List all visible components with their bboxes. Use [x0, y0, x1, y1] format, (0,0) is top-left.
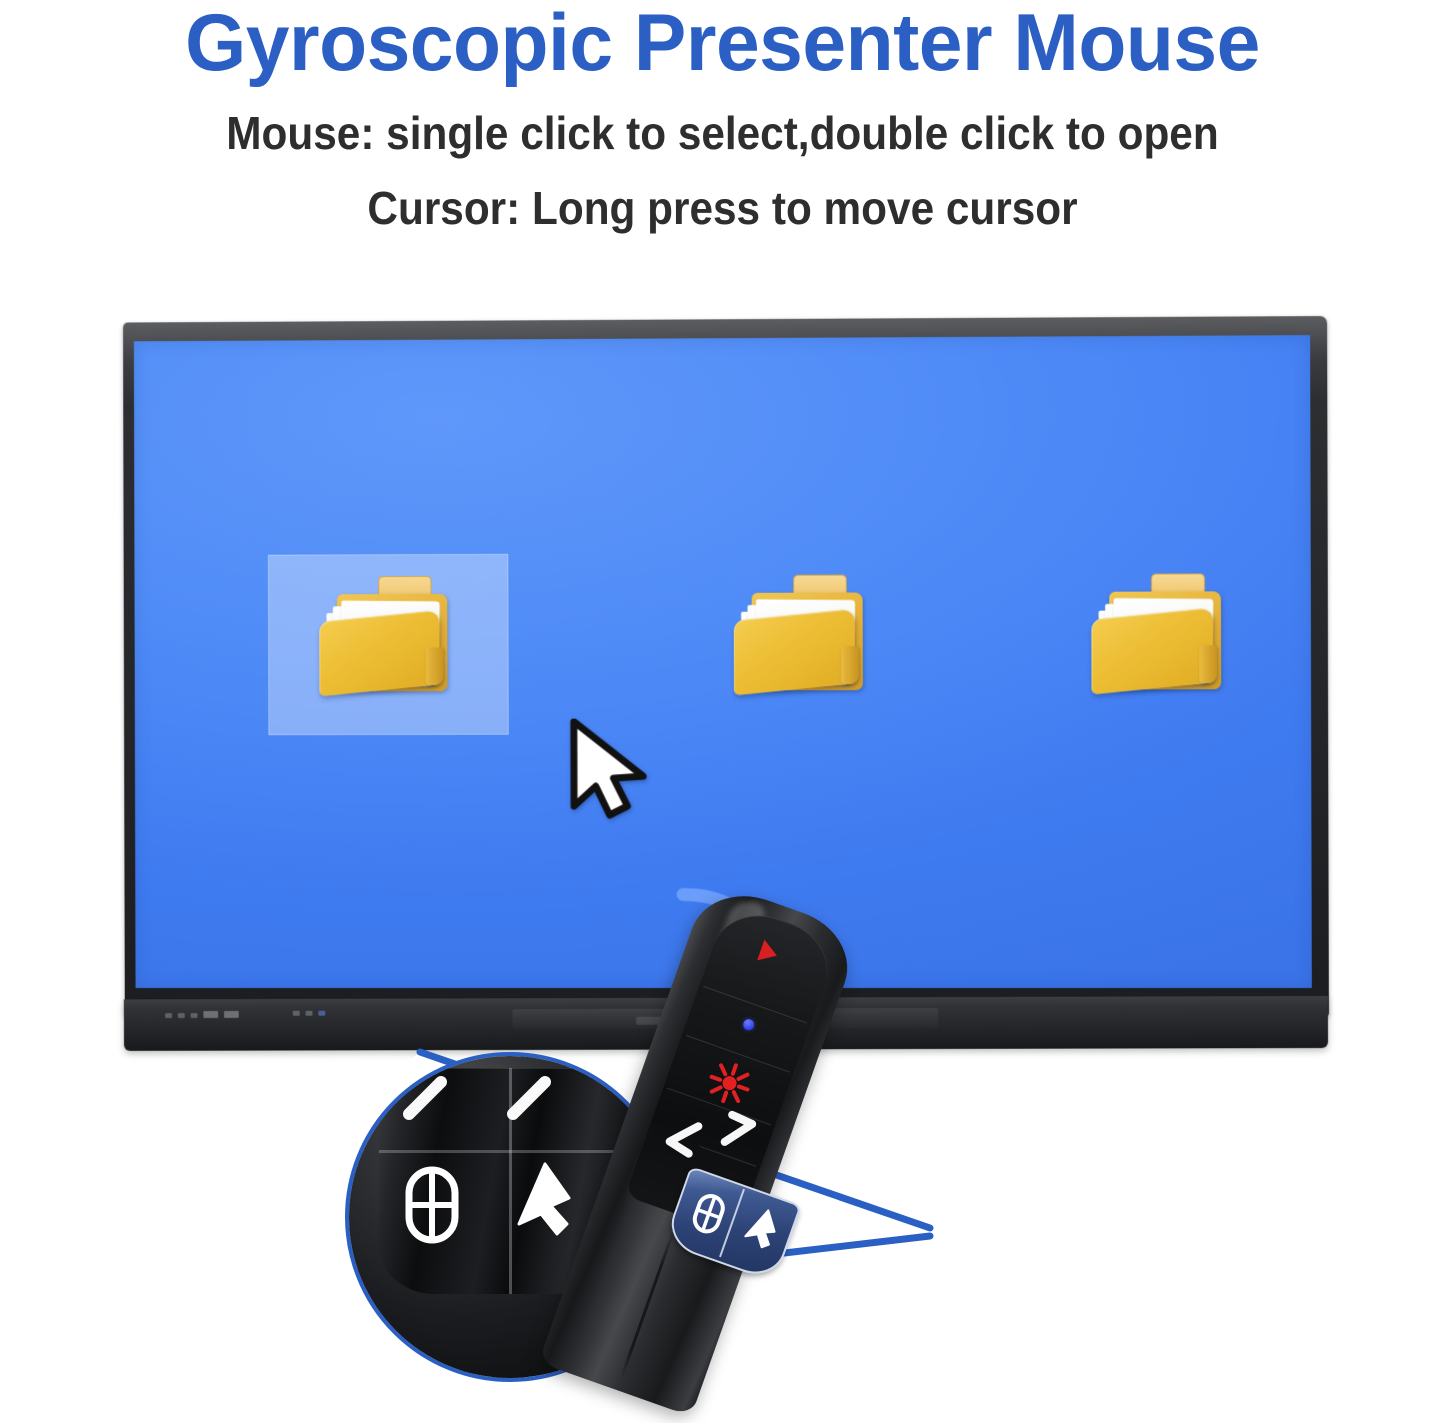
port-mark	[306, 1011, 313, 1016]
mouse-icon[interactable]	[403, 1164, 461, 1246]
monitor-port-marks-left	[165, 1011, 239, 1018]
folder-edge-curl	[426, 647, 444, 685]
page-previous-button[interactable]	[659, 1112, 708, 1161]
desktop-icon-folder-1[interactable]	[311, 576, 459, 725]
chevron-right-icon[interactable]	[503, 1074, 557, 1128]
port-mark	[318, 1011, 325, 1016]
cursor-move-button[interactable]	[738, 1203, 784, 1254]
port-mark	[191, 1013, 198, 1018]
button-divider	[703, 986, 807, 1024]
port-mark	[178, 1013, 185, 1018]
folder-icon	[1083, 573, 1231, 701]
folder-edge-curl	[841, 646, 859, 684]
page-next-button[interactable]	[713, 1108, 762, 1157]
slideshow-play-button[interactable]	[757, 940, 780, 966]
mouse-pointer-icon	[568, 718, 663, 820]
port-mark	[224, 1011, 239, 1018]
folder-front-flap	[319, 610, 439, 696]
port-mark	[203, 1011, 218, 1018]
folder-front-flap	[734, 609, 855, 696]
page-title: Gyroscopic Presenter Mouse	[22, 2, 1424, 84]
subtitle-line-1: Mouse: single click to select,double cli…	[58, 108, 1387, 158]
folder-edge-curl	[1199, 645, 1217, 683]
laser-pointer-button[interactable]	[703, 1056, 757, 1110]
folder-icon	[311, 576, 457, 703]
desktop-icon-folder-3[interactable]	[1083, 573, 1233, 723]
monitor-port-marks-right	[293, 1011, 325, 1016]
status-led-icon	[742, 1018, 756, 1032]
desktop-icon-folder-2[interactable]	[726, 575, 875, 725]
folder-front-flap	[1091, 608, 1213, 695]
subtitle-line-2: Cursor: Long press to move cursor	[58, 183, 1387, 233]
folder-icon	[726, 575, 873, 703]
mouse-click-button[interactable]	[688, 1189, 730, 1239]
port-mark	[293, 1011, 300, 1016]
product-infographic: Gyroscopic Presenter Mouse Mouse: single…	[0, 0, 1445, 1423]
port-mark	[165, 1013, 172, 1018]
chevron-left-icon[interactable]	[397, 1074, 451, 1128]
